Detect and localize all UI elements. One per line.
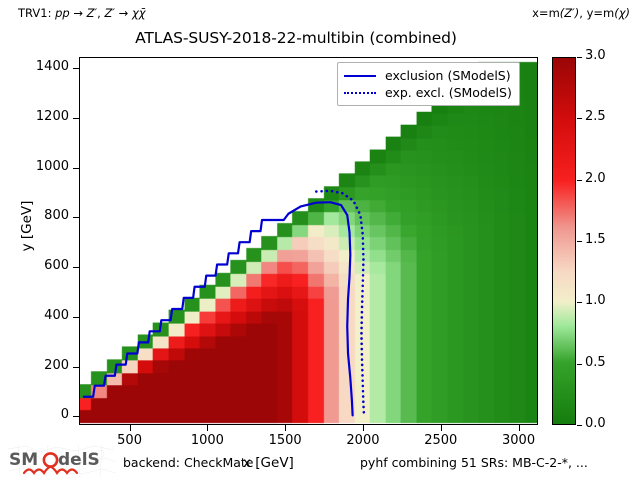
y-axis-tick (73, 68, 79, 69)
y-axis-tick-label: 1200 (36, 109, 69, 124)
header-process-particle-1: Z′ (87, 6, 98, 20)
colorbar-tick (577, 425, 582, 426)
y-axis-tick-label: 800 (44, 208, 69, 223)
header-y-argument: (χ) (614, 6, 630, 20)
x-axis-tick-label: 3000 (502, 433, 535, 448)
y-axis-label: y [GeV] (19, 166, 35, 286)
page-title: ATLAS-SUSY-2018-22-multibin (combined) (0, 29, 640, 47)
legend-label-observed: exclusion (SModelS) (385, 68, 511, 83)
y-axis-tick (73, 168, 79, 169)
y-axis-tick (73, 217, 79, 218)
colorbar-tick-label: 0.5 (585, 355, 606, 370)
y-axis-tick-label: 400 (44, 308, 69, 323)
header-process-final-state: χχ̄ (132, 6, 146, 20)
x-axis-tick (519, 425, 520, 431)
x-axis-tick (130, 425, 131, 431)
header-x-definition: x=m (532, 6, 560, 20)
footer-backend-text: backend: CheckMate (123, 455, 253, 470)
footer-pyhf-text: pyhf combining 51 SRs: MB-C-2-*, ... (360, 455, 588, 470)
header-process-particle-2: Z′ (104, 6, 115, 20)
colorbar-tick-label: 1.5 (585, 232, 606, 247)
y-axis-tick-label: 200 (44, 358, 69, 373)
y-axis-tick-label: 1400 (36, 59, 69, 74)
y-axis-tick-label: 0 (61, 407, 69, 422)
colorbar-tick (577, 180, 582, 181)
x-axis-tick (207, 425, 208, 431)
page-title-text: ATLAS-SUSY-2018-22-multibin (combined) (135, 29, 457, 47)
header-axis-definition: x=m(Z′), y=m(χ) (532, 6, 630, 20)
colorbar-tick (577, 364, 582, 365)
header-process-prefix: TRV1: (18, 6, 55, 20)
logo-text-dels: delS (58, 450, 100, 470)
colorbar-tick-label: 2.0 (585, 171, 606, 186)
legend-label-expected: exp. excl. (SModelS) (385, 85, 512, 100)
legend-solid-line-icon (344, 70, 376, 82)
y-axis-tick (73, 367, 79, 368)
header-definition-separator: , (579, 6, 586, 20)
plot-axes-area (79, 57, 538, 425)
logo-o-circle-icon (44, 453, 57, 466)
contour-layer (80, 58, 537, 424)
legend-dotted-line-icon (344, 87, 376, 99)
legend-item-expected[interactable]: exp. excl. (SModelS) (344, 84, 512, 101)
header-process-arrow-1: → (70, 6, 87, 20)
colorbar-tick-label: 0.0 (585, 416, 606, 431)
exclusion-contour-expected (316, 191, 364, 416)
colorbar-tick-label: 2.5 (585, 109, 606, 124)
y-axis-tick (73, 118, 79, 119)
colorbar-gradient (553, 58, 575, 424)
header-x-argument: (Z′) (560, 6, 579, 20)
logo-text-sm: SM (9, 450, 38, 470)
x-axis-tick-label: 2000 (346, 433, 379, 448)
y-axis-tick-label: 600 (44, 258, 69, 273)
x-axis-tick (285, 425, 286, 431)
colorbar (552, 57, 576, 425)
smodels-logo[interactable]: SM delS (6, 443, 118, 479)
colorbar-tick (577, 57, 582, 58)
colorbar-tick-label: 3.0 (585, 48, 606, 63)
x-axis-tick-label: 500 (117, 433, 142, 448)
x-axis-tick (441, 425, 442, 431)
smodels-logo-graphic: SM delS (6, 443, 118, 479)
y-axis-tick (73, 416, 79, 417)
colorbar-tick (577, 241, 582, 242)
exclusion-contour-observed (84, 202, 353, 415)
header-process-arrow-2: → (115, 6, 132, 20)
header-process-annotation: TRV1: pp → Z′, Z′ → χχ̄ (18, 6, 146, 20)
y-axis-tick (73, 317, 79, 318)
colorbar-tick-label: 1.0 (585, 293, 606, 308)
header-y-definition: y=m (587, 6, 615, 20)
colorbar-tick (577, 302, 582, 303)
legend[interactable]: exclusion (SModelS) exp. excl. (SModelS) (337, 62, 520, 106)
x-axis-tick-label: 1000 (191, 433, 224, 448)
legend-item-observed[interactable]: exclusion (SModelS) (344, 67, 512, 84)
header-process-initial: pp (55, 6, 70, 20)
x-axis-tick-label: 2500 (424, 433, 457, 448)
x-axis-tick (363, 425, 364, 431)
colorbar-tick (577, 118, 582, 119)
x-axis-tick-label: 1500 (269, 433, 302, 448)
y-axis-tick-label: 1000 (36, 159, 69, 174)
y-axis-tick (73, 267, 79, 268)
